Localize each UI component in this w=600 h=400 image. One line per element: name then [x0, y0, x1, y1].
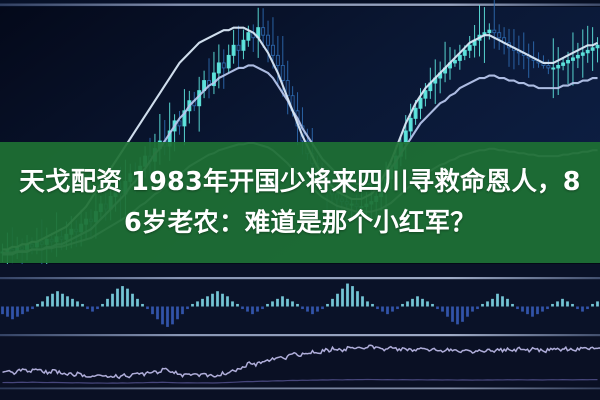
macd-panel: [0, 264, 600, 334]
title-banner: 天戈配资 1983年开国少将来四川寻救命恩人，86岁老农：难道是那个小红军？: [0, 142, 600, 263]
macd-top-divider: [0, 277, 600, 279]
indicator-top-divider: [0, 334, 600, 336]
bottom-divider: [0, 388, 600, 390]
thumbnail-image: 天戈配资 1983年开国少将来四川寻救命恩人，86岁老农：难道是那个小红军？: [0, 0, 600, 400]
indicator-panel: [0, 334, 600, 400]
page-title: 天戈配资 1983年开国少将来四川寻救命恩人，86岁老农：难道是那个小红军？: [14, 162, 586, 244]
top-divider: [0, 4, 600, 6]
